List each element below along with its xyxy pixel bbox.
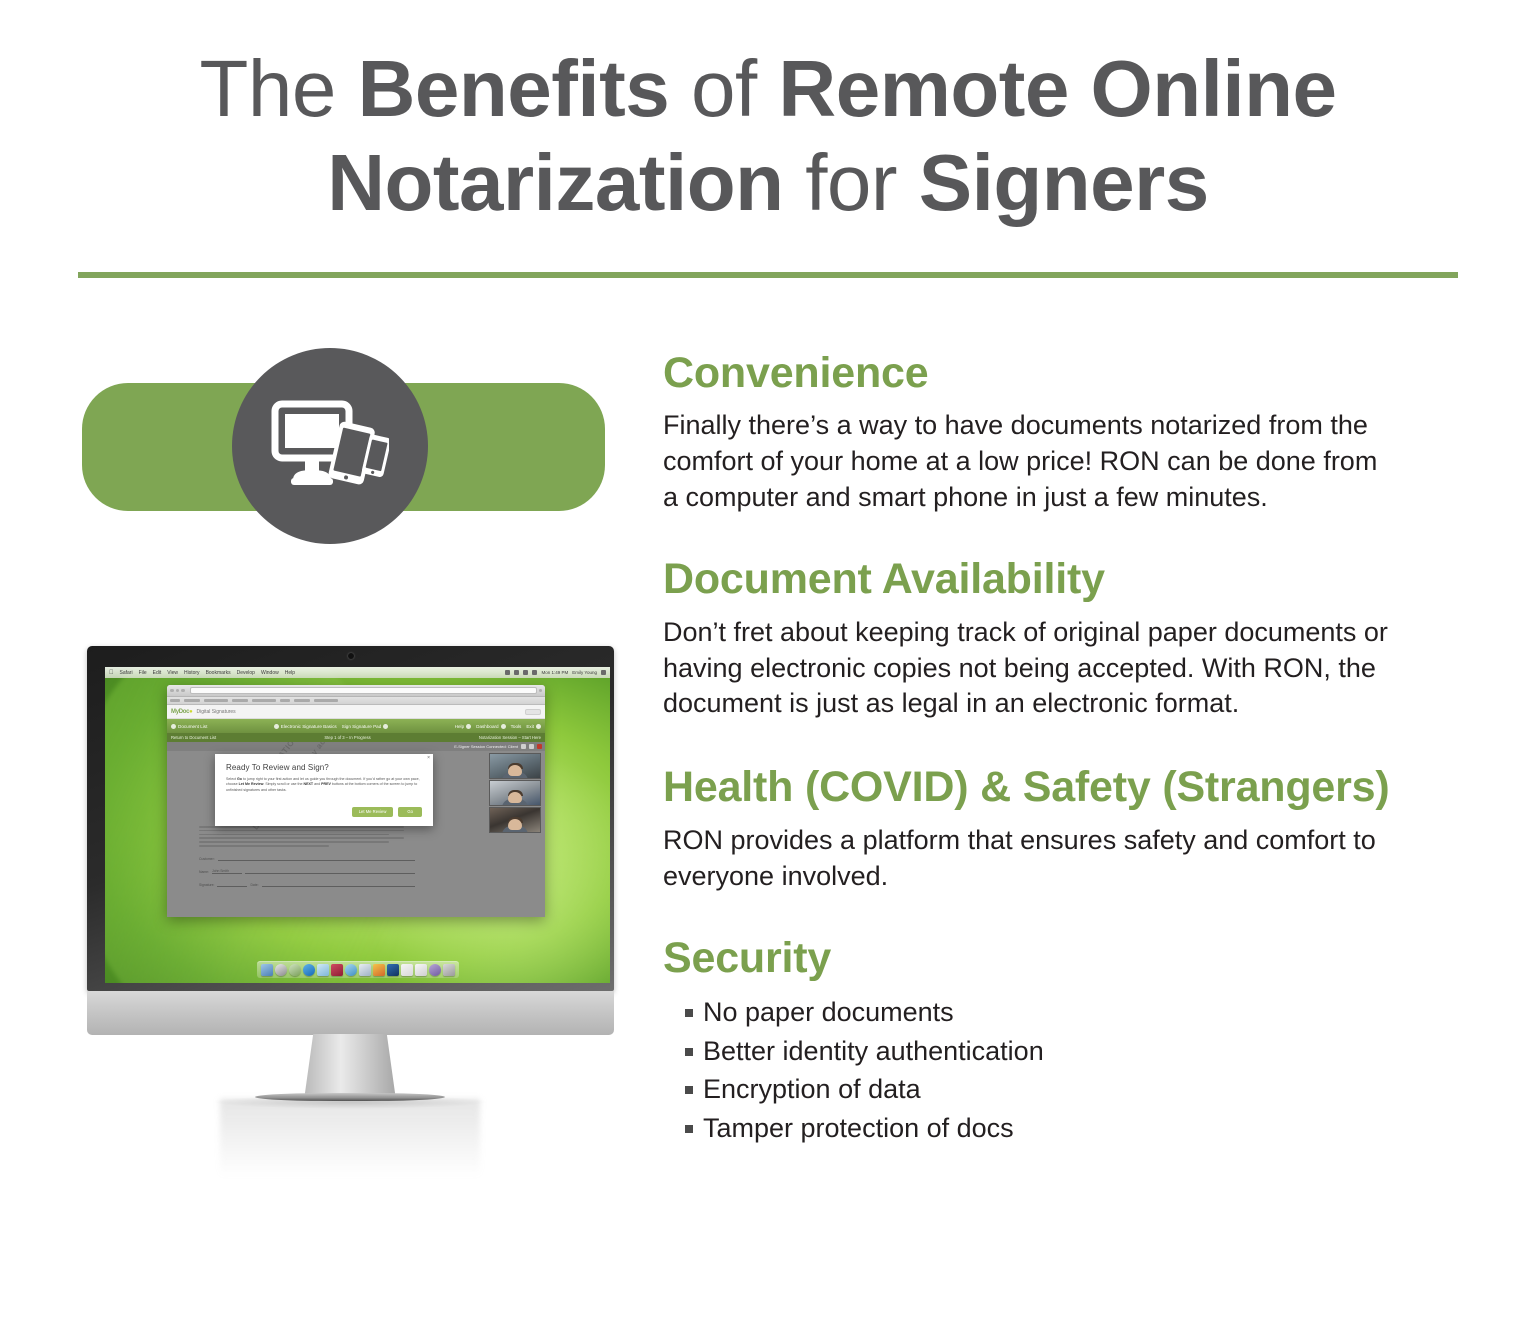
menubar-user[interactable]: Emily Young [572, 670, 597, 675]
address-bar[interactable] [190, 687, 537, 694]
document-text-line [199, 834, 389, 836]
mac-menu-bar[interactable]:  Safari File Edit View History Bookmark… [105, 667, 610, 678]
bookmark-item[interactable] [204, 699, 228, 702]
list-item: No paper documents [663, 995, 1483, 1030]
subbar-progress: Step 1 of 3 – In Progress [324, 735, 370, 740]
bookmark-item[interactable] [280, 699, 290, 702]
devices-icon [271, 396, 389, 496]
document-text-line [199, 841, 389, 843]
dock-icon-calendar[interactable] [373, 964, 385, 976]
document-paragraph [199, 826, 415, 847]
section-body-document-availability: Don’t fret about keeping track of origin… [663, 615, 1463, 723]
dock-icon-photoshop[interactable] [387, 964, 399, 976]
title-word-benefits: Benefits [358, 44, 691, 133]
document-text-line [199, 837, 404, 839]
add-tab-icon[interactable] [539, 689, 543, 693]
toolbar-item-sign-pad[interactable]: Sign Signature Pad [342, 724, 389, 729]
dock-icon-acrobat[interactable] [401, 964, 413, 976]
dock-icon-indesign[interactable] [331, 964, 343, 976]
toolbar-item-exit[interactable]: Exit [526, 724, 541, 729]
maximize-icon[interactable] [529, 744, 534, 749]
menubar-status-items[interactable]: Mon 1:49 PM Emily Young [505, 670, 606, 675]
title-word-the: The [200, 44, 358, 133]
menubar-item-help[interactable]: Help [285, 670, 295, 676]
field-input[interactable] [218, 856, 415, 861]
title-word-notarization: Notarization [327, 138, 805, 227]
menubar-item-safari[interactable]: Safari [120, 670, 133, 676]
go-button[interactable]: Go [398, 807, 422, 817]
imac-bezel:  Safari File Edit View History Bookmark… [87, 646, 614, 991]
security-bullet-list: No paper documents Better identity authe… [663, 995, 1483, 1145]
dock-icon-finder[interactable] [261, 964, 273, 976]
dock-icon-acrobat-reader[interactable] [415, 964, 427, 976]
document-text-line [199, 830, 404, 832]
section-heading-security: Security [663, 935, 1483, 981]
page-title-line-2: Notarization for Signers [78, 136, 1458, 230]
dock-icon-trash[interactable] [443, 964, 455, 976]
dock-icon-messages[interactable] [317, 964, 329, 976]
section-security: Security No paper documents Better ident… [663, 935, 1483, 1146]
bookmark-item[interactable] [314, 699, 338, 702]
imac-stand-neck [304, 1034, 396, 1100]
volume-icon[interactable] [523, 670, 528, 675]
list-item: Tamper protection of docs [663, 1111, 1483, 1146]
apple-menu-icon[interactable]:  [109, 670, 114, 676]
app-toolbar[interactable]: Document List Electronic Signature Basic… [167, 719, 545, 733]
field-input[interactable] [217, 882, 247, 887]
devices-icon-badge [232, 348, 428, 544]
bluetooth-icon[interactable] [532, 670, 537, 675]
dock-icon-time-machine[interactable] [345, 964, 357, 976]
menubar-item-edit[interactable]: Edit [153, 670, 162, 676]
field-input[interactable]: John Smith [212, 869, 242, 874]
app-title: Digital Signatures [197, 709, 236, 715]
pen-icon [383, 724, 388, 729]
app-subbar[interactable]: Return to Document List Step 1 of 3 – In… [167, 733, 545, 742]
document-text-line [199, 826, 404, 828]
modal-title: Ready To Review and Sign? [226, 763, 433, 772]
page-title-line-1: The Benefits of Remote Online [78, 42, 1458, 136]
modal-close-icon[interactable]: × [427, 756, 430, 761]
toolbar-item-help[interactable]: Help [455, 724, 471, 729]
subbar-return-link[interactable]: Return to Document List [171, 735, 216, 740]
bookmark-item[interactable] [252, 699, 276, 702]
wifi-icon[interactable] [514, 670, 519, 675]
bookmarks-bar[interactable] [167, 697, 545, 705]
app-logo[interactable]: MyDoc● [171, 709, 193, 715]
document-viewer: E-Signer Session Connected: Client SI SA… [167, 742, 545, 917]
video-participant-tile[interactable] [489, 780, 541, 806]
list-item: Encryption of data [663, 1072, 1483, 1107]
section-heading-convenience: Convenience [663, 350, 1483, 396]
section-heading-health-safety: Health (COVID) & Safety (Strangers) [663, 764, 1483, 810]
menubar-item-history[interactable]: History [184, 670, 200, 676]
forward-icon[interactable] [176, 689, 180, 693]
search-icon[interactable] [601, 670, 606, 675]
section-convenience: Convenience Finally there’s a way to hav… [663, 350, 1483, 516]
toolbar-item-tools[interactable]: Tools [511, 724, 522, 729]
dock-icon-mail[interactable] [303, 964, 315, 976]
app-header: MyDoc● Digital Signatures [167, 705, 545, 719]
close-icon[interactable] [537, 744, 542, 749]
modal-body: Select Go to jump right to your first ac… [226, 777, 422, 793]
mac-dock[interactable] [257, 961, 459, 978]
section-body-convenience: Finally there’s a way to have documents … [663, 408, 1383, 516]
field-label: Signature: [199, 883, 214, 887]
session-window-strip: E-Signer Session Connected: Client [167, 742, 545, 751]
document-form-fields: Customer: Name: John Smith Signature: [199, 856, 415, 887]
imac-camera-icon [348, 653, 354, 659]
subbar-session-link[interactable]: Notarization Session – Start Here [479, 735, 541, 740]
page-title: The Benefits of Remote Online Notarizati… [78, 42, 1458, 231]
infographic-page: The Benefits of Remote Online Notarizati… [0, 0, 1536, 1329]
participant-head [508, 819, 522, 830]
dashboard-icon [501, 724, 506, 729]
section-health-safety: Health (COVID) & Safety (Strangers) RON … [663, 764, 1483, 894]
share-icon[interactable] [181, 689, 185, 693]
toolbar-item-document-list[interactable]: Document List [171, 724, 207, 729]
menubar-clock[interactable]: Mon 1:49 PM [541, 670, 568, 675]
menubar-item-develop[interactable]: Develop [237, 670, 255, 676]
toolbar-item-dashboard[interactable]: Dashboard [476, 724, 505, 729]
info-icon [274, 724, 279, 729]
title-word-of: of [691, 44, 778, 133]
modal-actions: Let Me Review Go [352, 807, 422, 817]
back-icon[interactable] [170, 689, 174, 693]
minimize-icon[interactable] [521, 744, 526, 749]
video-call-panel[interactable] [489, 753, 541, 834]
let-me-review-button[interactable]: Let Me Review [352, 807, 394, 817]
browser-toolbar[interactable] [167, 685, 545, 697]
menubar-item-window[interactable]: Window [261, 670, 279, 676]
title-word-remote-online: Remote Online [778, 44, 1336, 133]
imac-screen:  Safari File Edit View History Bookmark… [105, 667, 610, 983]
app-header-button[interactable] [525, 709, 541, 715]
bookmark-item[interactable] [232, 699, 248, 702]
title-divider [78, 272, 1458, 278]
field-input-secondary[interactable] [245, 869, 415, 874]
review-and-sign-modal[interactable]: × Ready To Review and Sign? Select Go to… [215, 754, 433, 826]
section-document-availability: Document Availability Don’t fret about k… [663, 556, 1483, 722]
dock-icon-system-preferences[interactable] [429, 964, 441, 976]
field-customer: Customer: [199, 856, 415, 861]
benefits-sections: Convenience Finally there’s a way to hav… [663, 350, 1483, 1171]
imac-chin [87, 991, 614, 1035]
imac-reflection [220, 1099, 480, 1177]
field-label: Customer: [199, 857, 215, 861]
section-heading-document-availability: Document Availability [663, 556, 1483, 602]
toolbar-item-esign-basics[interactable]: Electronic Signature Basics [274, 724, 337, 729]
document-text-line [199, 845, 329, 847]
field-name: Name: John Smith [199, 869, 415, 874]
bookmark-item[interactable] [170, 699, 180, 702]
exit-icon [536, 724, 541, 729]
video-participant-tile[interactable] [489, 807, 541, 833]
menubar-item-file[interactable]: File [139, 670, 147, 676]
help-icon [466, 724, 471, 729]
session-strip-label: E-Signer Session Connected: Client [454, 744, 518, 749]
video-participant-tile[interactable] [489, 753, 541, 779]
field-input[interactable] [262, 882, 415, 887]
participant-head [508, 792, 522, 803]
bookmark-item[interactable] [294, 699, 310, 702]
field-label-date: Date: [250, 883, 258, 887]
dock-icon-safari[interactable] [275, 964, 287, 976]
imac-illustration:  Safari File Edit View History Bookmark… [80, 640, 620, 1110]
dock-icon-photos[interactable] [289, 964, 301, 976]
menubar-item-bookmarks[interactable]: Bookmarks [206, 670, 231, 676]
title-word-signers: Signers [919, 138, 1209, 227]
menubar-item-view[interactable]: View [167, 670, 178, 676]
sample-document: SI SAMPLE DOCUMENT [193, 816, 421, 912]
title-word-for: for [805, 138, 919, 227]
dock-icon-preview[interactable] [359, 964, 371, 976]
battery-icon[interactable] [505, 670, 510, 675]
document-icon [171, 724, 176, 729]
app-logo-dot: ● [189, 709, 192, 715]
section-body-health-safety: RON provides a platform that ensures saf… [663, 823, 1463, 895]
participant-head [508, 765, 522, 776]
field-signature: Signature: Date: [199, 882, 415, 887]
browser-window[interactable]: MyDoc● Digital Signatures Document List … [167, 685, 545, 917]
field-label: Name: [199, 870, 209, 874]
list-item: Better identity authentication [663, 1034, 1483, 1069]
bookmark-item[interactable] [184, 699, 200, 702]
